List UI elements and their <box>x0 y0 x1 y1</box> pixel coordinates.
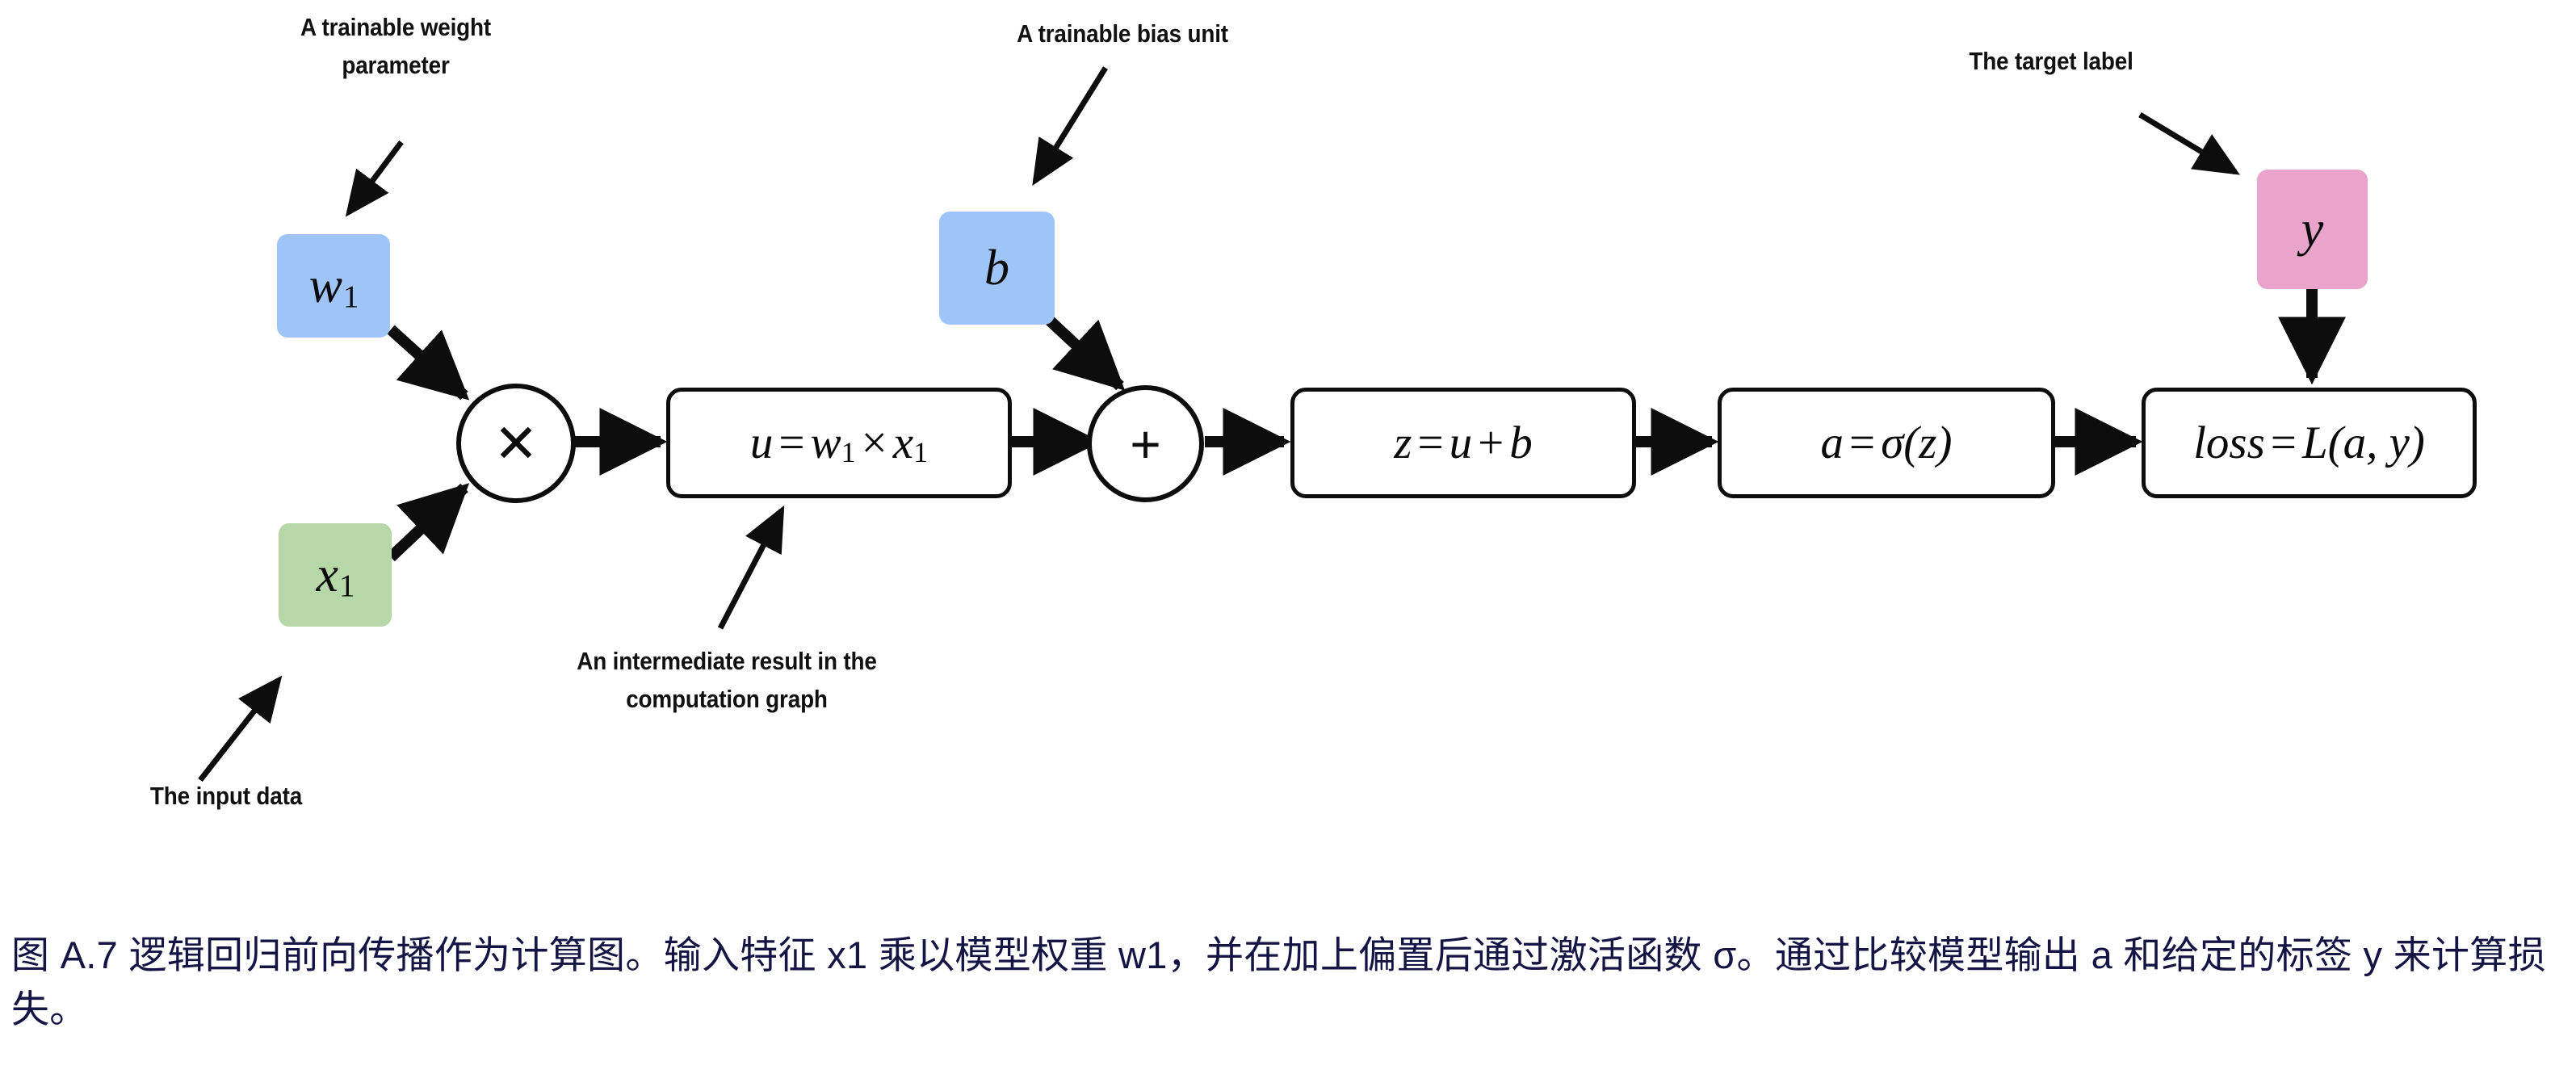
figure-canvas: A trainable weight parameter A trainable… <box>0 0 2576 1074</box>
formula-u-equals: = <box>773 417 810 469</box>
figure-caption: 图 A.7 逻辑回归前向传播作为计算图。输入特征 x1 乘以模型权重 w1，并在… <box>11 929 2563 1036</box>
formula-box-loss[interactable]: loss = L(a, y) <box>2142 388 2477 498</box>
formula-loss-equals: = <box>2265 417 2302 469</box>
operator-add[interactable]: + <box>1087 385 1204 502</box>
node-x1-subscript: 1 <box>339 570 355 602</box>
annotation-bias-note: A trainable bias unit <box>919 15 1326 52</box>
node-y-base: y <box>2301 204 2324 254</box>
plus-icon: + <box>1092 390 1199 497</box>
node-b-base: b <box>984 243 1009 293</box>
leader-input-note <box>200 680 279 780</box>
annotation-intermediate-note: An intermediate result in the computatio… <box>465 642 988 718</box>
node-w1[interactable]: w1 <box>277 234 390 338</box>
formula-u-rhs-b-subscript: 1 <box>913 435 928 469</box>
leader-bias-note <box>1035 68 1105 181</box>
leader-intermediate-note <box>720 510 782 628</box>
annotation-input-note: The input data <box>66 777 386 815</box>
node-b[interactable]: b <box>939 212 1055 325</box>
formula-z-equals: = <box>1412 417 1449 469</box>
formula-box-a[interactable]: a = σ(z) <box>1718 388 2055 498</box>
formula-z-operator: + <box>1472 417 1509 469</box>
formula-z-rhs-b: b <box>1509 417 1533 469</box>
formula-u-operator: × <box>856 417 893 469</box>
edge-x1-multiply <box>391 488 464 557</box>
node-y[interactable]: y <box>2257 170 2368 289</box>
formula-a-equals: = <box>1844 417 1881 469</box>
node-x1[interactable]: x1 <box>279 523 392 627</box>
formula-a-rhs: σ(z) <box>1881 417 1952 469</box>
node-x1-base: x <box>316 550 338 600</box>
annotation-target-note: The target label <box>1869 42 2233 80</box>
formula-loss-rhs: L(a, y) <box>2302 417 2425 469</box>
formula-z-lhs: z <box>1394 417 1412 469</box>
formula-a-lhs: a <box>1821 417 1844 469</box>
leader-target-note <box>2140 115 2235 172</box>
leader-weight-note <box>349 142 401 212</box>
formula-u-rhs-b: x <box>893 417 913 469</box>
formula-box-u[interactable]: u = w1 × x1 <box>666 388 1012 498</box>
edge-w1-multiply <box>391 329 464 396</box>
formula-u-rhs-a-subscript: 1 <box>841 435 856 469</box>
node-w1-subscript: 1 <box>343 281 359 313</box>
formula-loss-lhs: loss <box>2193 417 2265 469</box>
node-w1-base: w <box>309 261 342 311</box>
annotation-weight-note: A trainable weight parameter <box>243 8 548 84</box>
formula-box-z[interactable]: z = u + b <box>1290 388 1636 498</box>
operator-multiply[interactable]: ✕ <box>456 384 576 503</box>
edge-b-add <box>1050 321 1120 386</box>
formula-u-rhs-a: w <box>811 417 841 469</box>
formula-u-lhs: u <box>750 417 774 469</box>
formula-z-rhs-a: u <box>1450 417 1473 469</box>
multiply-icon: ✕ <box>461 388 571 498</box>
